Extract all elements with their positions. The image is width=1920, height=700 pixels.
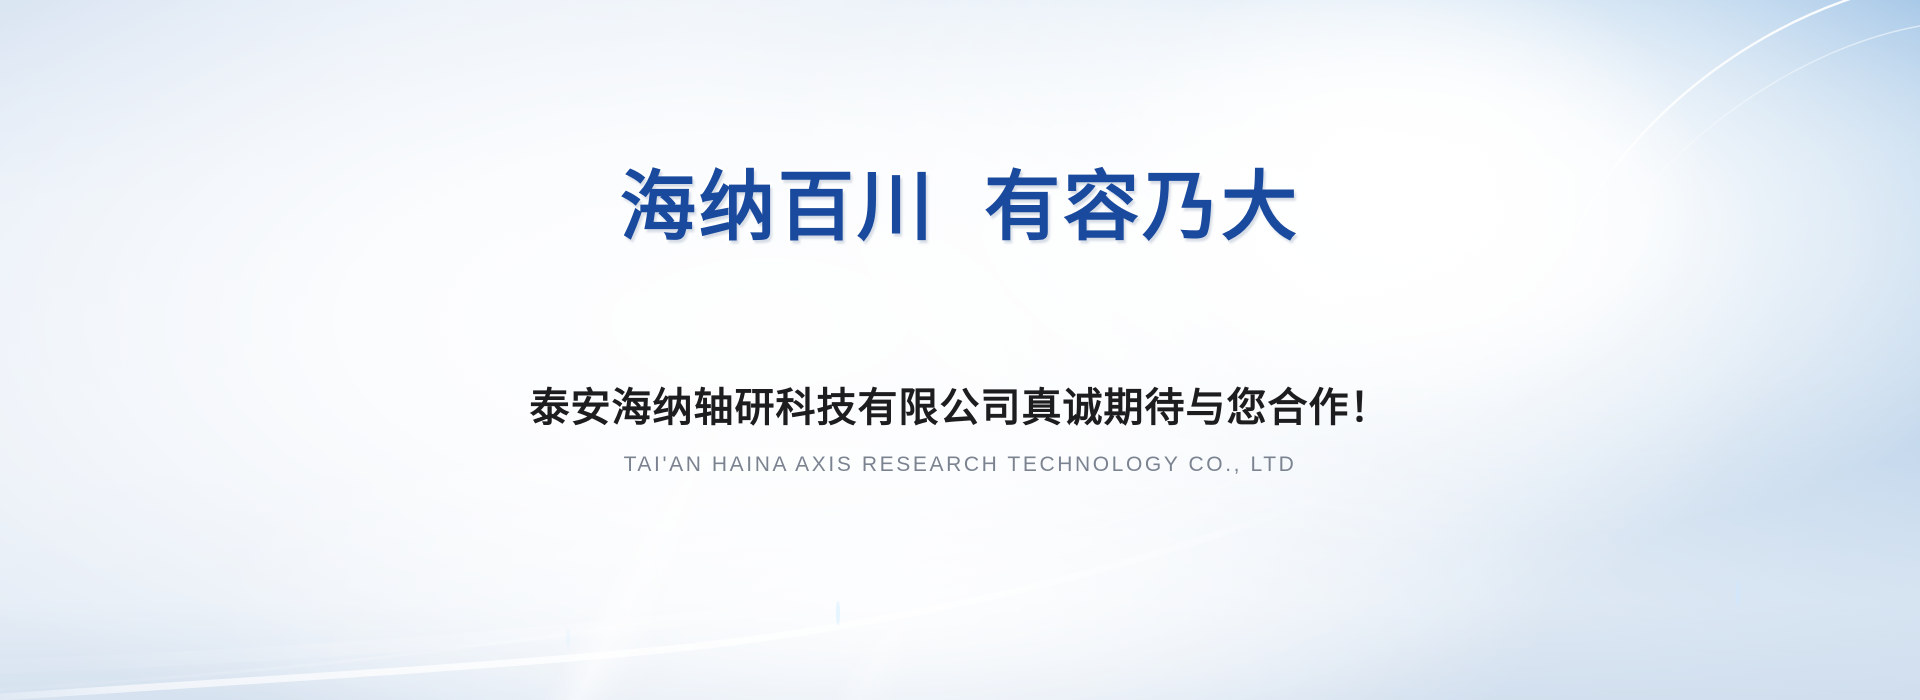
- banner-subtitle-cn: 泰安海纳轴研科技有限公司真诚期待与您合作！: [0, 385, 1920, 431]
- banner-content: 海纳百川 有容乃大 泰安海纳轴研科技有限公司真诚期待与您合作！ TAI'AN H…: [0, 0, 1920, 700]
- banner-subtitle-en: TAI'AN HAINA AXIS RESEARCH TECHNOLOGY CO…: [0, 452, 1920, 477]
- banner-headline: 海纳百川 有容乃大: [0, 168, 1920, 249]
- hero-banner: 海纳百川 有容乃大 泰安海纳轴研科技有限公司真诚期待与您合作！ TAI'AN H…: [0, 0, 1920, 700]
